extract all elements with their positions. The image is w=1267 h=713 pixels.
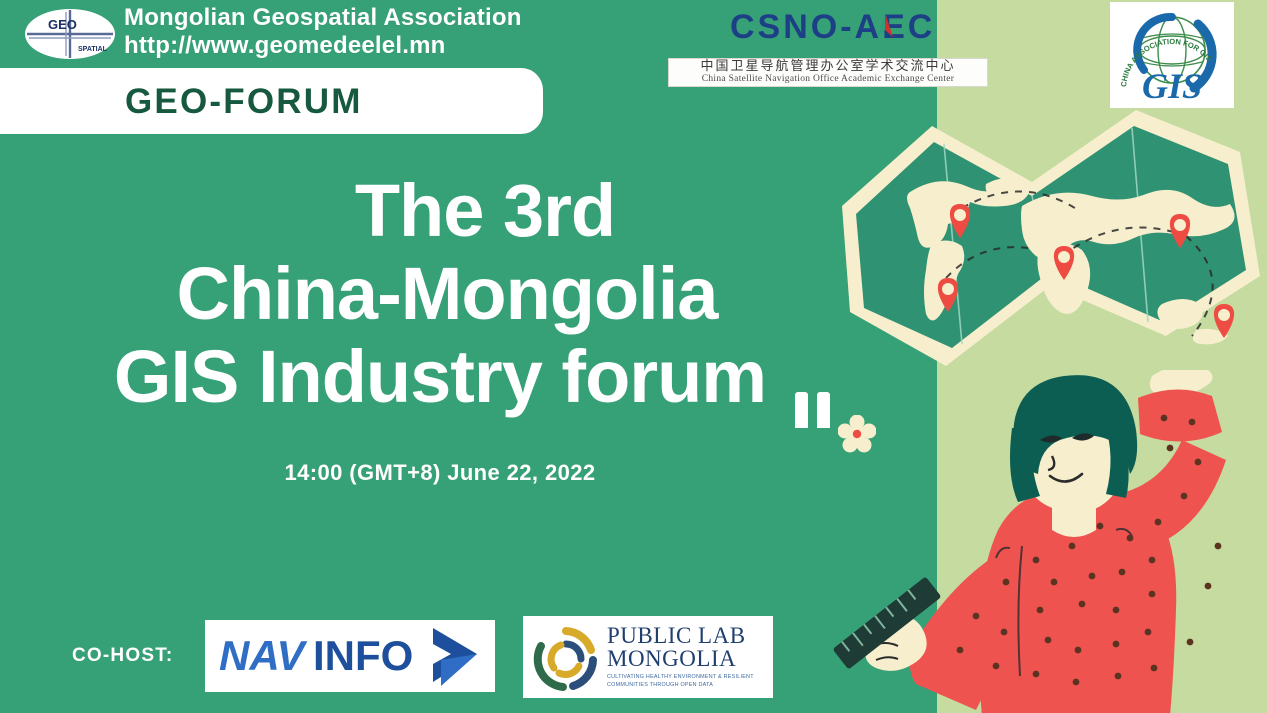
mongolian-geospatial-association-logo: GEO SPATIAL: [22, 6, 118, 62]
plm-tagline: CULTIVATING HEALTHY ENVIRONMENT & RESILI…: [607, 673, 767, 689]
navinfo-text-a: NAV: [219, 632, 308, 679]
flower-icon: [838, 415, 876, 453]
csno-aec-logo: CSNO-AEC 中国卫星导航管理办公室学术交流中心 China Satelli…: [668, 6, 998, 90]
title-line-1: The 3rd: [0, 170, 880, 253]
plm-ring-icon: [533, 626, 599, 692]
csno-wordmark: CSNO-AEC: [730, 8, 935, 47]
event-datetime: 14:00 (GMT+8) June 22, 2022: [0, 460, 880, 486]
association-name: Mongolian Geospatial Association: [124, 4, 522, 32]
association-header: Mongolian Geospatial Association http://…: [124, 4, 522, 59]
cohost-label: CO-HOST:: [72, 645, 173, 667]
csno-compass-icon: [868, 10, 902, 44]
association-url: http://www.geomedeelel.mn: [124, 32, 522, 60]
public-lab-mongolia-logo: PUBLIC LAB MONGOLIA CULTIVATING HEALTHY …: [523, 616, 773, 698]
navinfo-text-b: INFO: [313, 632, 413, 679]
csno-subtitle-box: 中国卫星导航管理办公室学术交流中心 China Satellite Naviga…: [668, 58, 988, 87]
navinfo-logo: NAV INFO: [205, 620, 495, 692]
csno-english-name: China Satellite Navigation Office Academ…: [671, 74, 985, 85]
csno-chinese-name: 中国卫星导航管理办公室学术交流中心: [671, 60, 985, 74]
plm-title-line-1: PUBLIC LAB: [607, 624, 746, 647]
geo-forum-badge: GEO-FORUM: [0, 68, 543, 134]
page-title: The 3rd China-Mongolia GIS Industry foru…: [0, 170, 880, 419]
event-poster: GEO SPATIAL Mongolian Geospatial Associa…: [0, 0, 1267, 713]
svg-text:SPATIAL: SPATIAL: [78, 46, 108, 53]
csno-text: CSNO-AEC: [730, 8, 935, 46]
plm-title: PUBLIC LAB MONGOLIA: [607, 624, 746, 670]
geo-forum-label: GEO-FORUM: [125, 82, 363, 122]
plm-title-line-2: MONGOLIA: [607, 647, 746, 670]
svg-text:GEO: GEO: [48, 17, 77, 32]
title-line-3: GIS Industry forum: [0, 336, 880, 419]
title-line-2: China-Mongolia: [0, 253, 880, 336]
